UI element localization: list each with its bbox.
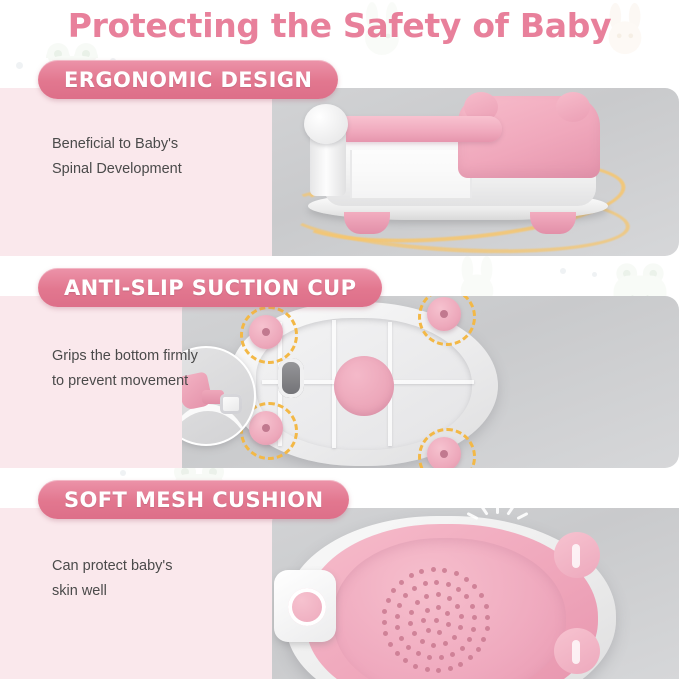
badge-anti-slip-suction-cup[interactable]: ANTI-SLIP SUCTION CUP xyxy=(38,268,382,307)
bg-dot xyxy=(16,62,23,69)
panel-3-description: Can protect baby's skin well xyxy=(52,554,665,604)
badge-ergonomic-design[interactable]: ERGONOMIC DESIGN xyxy=(38,60,338,99)
badge-ergonomic-design-label: ERGONOMIC DESIGN xyxy=(64,68,312,92)
bear-ear xyxy=(556,92,590,122)
suction-foot xyxy=(344,212,390,234)
ear-slot xyxy=(572,640,580,664)
panel-2-description: Grips the bottom firmly to prevent movem… xyxy=(52,344,665,394)
inset-mounting-slot xyxy=(220,394,242,414)
feature-panel-anti-slip-suction-cup: Grips the bottom firmly to prevent movem… xyxy=(0,296,679,468)
bg-dot xyxy=(560,268,566,274)
page-title-text: Protecting the Safety of Baby xyxy=(68,6,612,45)
panel-1-description: Beneficial to Baby's Spinal Development xyxy=(52,132,665,182)
feature-panel-ergonomic-design: Beneficial to Baby's Spinal Development xyxy=(0,88,679,256)
sparkle-icon xyxy=(470,508,526,528)
inset-base-edge xyxy=(182,404,254,446)
infographic-page: Protecting the Safety of Baby xyxy=(0,0,679,679)
suction-foot xyxy=(530,212,576,234)
feature-panel-soft-mesh-cushion: Can protect baby's skin well xyxy=(0,508,679,679)
suction-cup xyxy=(249,411,283,445)
page-title: Protecting the Safety of Baby xyxy=(0,2,679,48)
suction-cup xyxy=(427,437,461,468)
bg-dot xyxy=(120,470,126,476)
badge-soft-mesh-cushion[interactable]: SOFT MESH CUSHION xyxy=(38,480,349,519)
badge-soft-mesh-cushion-label: SOFT MESH CUSHION xyxy=(64,488,323,512)
bg-dot xyxy=(592,272,597,277)
suction-cup xyxy=(427,297,461,331)
badge-anti-slip-suction-cup-label: ANTI-SLIP SUCTION CUP xyxy=(64,276,356,300)
